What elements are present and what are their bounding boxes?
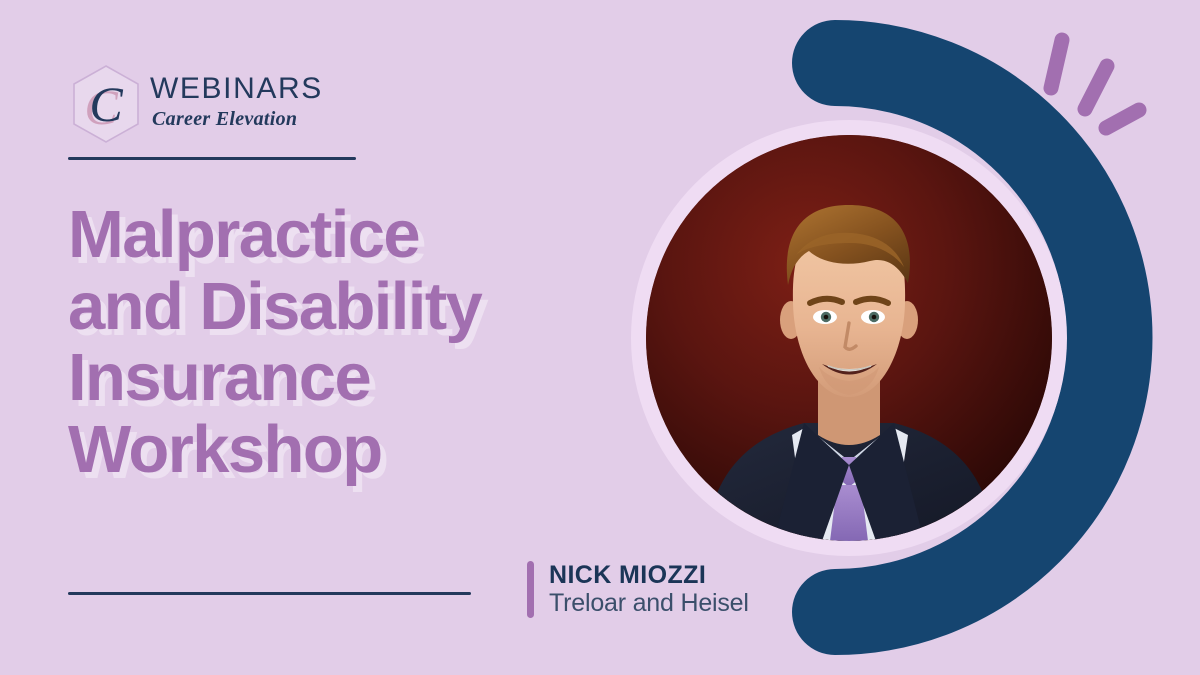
logo-title: WEBINARS: [150, 74, 323, 105]
brand-logo: C C WEBINARS Career Elevation: [68, 62, 323, 146]
speaker-credit: NICK MIOZZI Treloar and Heisel: [527, 561, 749, 618]
webinar-promo-slide: C C WEBINARS Career Elevation Malpractic…: [0, 0, 1200, 675]
speaker-organization: Treloar and Heisel: [549, 589, 749, 618]
bottom-divider: [68, 592, 471, 595]
speaker-accent-bar: [527, 561, 534, 618]
speaker-portrait: [646, 135, 1052, 541]
page-title: Malpractice and Disability Insurance Wor…: [68, 199, 608, 486]
logo-tagline: Career Elevation: [152, 107, 323, 132]
circular-portrait-frame-icon: [631, 120, 1067, 556]
hexagon-monogram-c-icon: C C: [68, 62, 144, 146]
three-purple-dashes-sparkle-icon: [1051, 40, 1139, 128]
speaker-name: NICK MIOZZI: [549, 561, 749, 589]
top-divider: [68, 157, 356, 160]
svg-text:C: C: [89, 76, 123, 132]
